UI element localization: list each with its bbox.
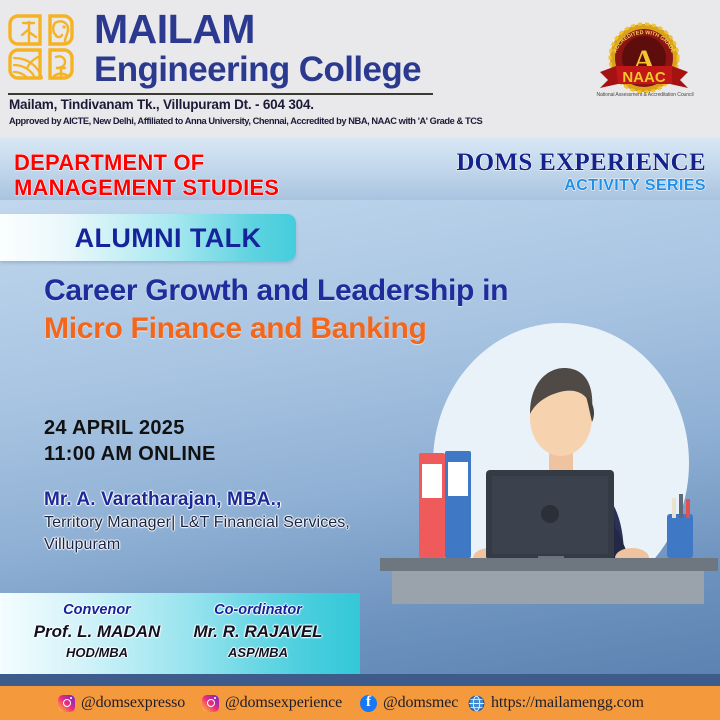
series-title: DOMS EXPERIENCE: [456, 150, 706, 176]
globe-icon: [468, 695, 485, 712]
department-line2: MANAGEMENT STUDIES: [14, 175, 279, 200]
college-name-line2: Engineering College: [94, 50, 421, 90]
instagram-icon: [58, 695, 75, 712]
event-title-line2: Micro Finance and Banking: [44, 310, 508, 348]
event-title-line1: Career Growth and Leadership in: [44, 272, 508, 310]
event-title: Career Growth and Leadership in Micro Fi…: [44, 272, 508, 348]
organiser-designation: HOD/MBA: [22, 643, 172, 662]
organiser-designation: ASP/MBA: [178, 643, 338, 662]
organiser-role: Co-ordinator: [178, 601, 338, 620]
event-time-mode: 11:00 AM ONLINE: [44, 441, 216, 467]
series-branding: DOMS EXPERIENCE ACTIVITY SERIES: [456, 150, 706, 196]
organiser-name: Mr. R. RAJAVEL: [178, 620, 338, 643]
social-footer: @domsexpresso @domsexperience @domsmec h…: [0, 686, 720, 720]
organiser-role: Convenor: [22, 601, 172, 620]
social-handle: @domsexpresso: [81, 694, 185, 712]
college-name: MAILAM Engineering College: [94, 8, 421, 90]
facebook-icon: [360, 695, 377, 712]
instagram-icon: [202, 695, 219, 712]
social-link-facebook-domsmec[interactable]: @domsmec: [360, 686, 458, 720]
series-subtitle: ACTIVITY SERIES: [456, 176, 706, 196]
organiser-coordinator: Co-ordinator Mr. R. RAJAVEL ASP/MBA: [178, 601, 338, 662]
speaker-name: Mr. A. Varatharajan, MBA.,: [44, 488, 350, 512]
footer-divider-strip: [0, 674, 720, 686]
organiser-name: Prof. L. MADAN: [22, 620, 172, 643]
organiser-convenor: Convenor Prof. L. MADAN HOD/MBA: [22, 601, 172, 662]
speaker-role-line2: Villupuram: [44, 534, 350, 556]
social-handle: @domsexperience: [225, 694, 342, 712]
alumni-talk-poster: MAILAM Engineering College Mailam, Tindi…: [0, 0, 720, 720]
social-handle: @domsmec: [383, 694, 458, 712]
college-name-line1: MAILAM: [94, 8, 421, 50]
department-title: DEPARTMENT OF MANAGEMENT STUDIES: [14, 150, 279, 200]
mailam-emblem-icon: [8, 10, 82, 88]
svg-text:NAAC: NAAC: [622, 69, 665, 86]
website-link[interactable]: https://mailamengg.com: [468, 686, 644, 720]
social-link-instagram-domsexpresso[interactable]: @domsexpresso: [58, 686, 185, 720]
website-url: https://mailamengg.com: [491, 694, 644, 712]
header-divider: [8, 93, 433, 95]
social-link-instagram-domsexperience[interactable]: @domsexperience: [202, 686, 342, 720]
businessman-at-desk-illustration: [378, 318, 720, 604]
event-type-label: ALUMNI TALK: [0, 223, 296, 254]
organisers-band: Convenor Prof. L. MADAN HOD/MBA Co-ordin…: [0, 593, 360, 674]
event-datetime: 24 APRIL 2025 11:00 AM ONLINE: [44, 415, 216, 467]
college-accreditation-text: Approved by AICTE, New Delhi, Affiliated…: [9, 116, 482, 127]
department-line1: DEPARTMENT OF: [14, 150, 279, 175]
event-date: 24 APRIL 2025: [44, 415, 216, 441]
naac-caption: National Assessment & Accreditation Coun…: [590, 92, 700, 98]
college-header: MAILAM Engineering College Mailam, Tindi…: [0, 0, 720, 138]
speaker-details: Mr. A. Varatharajan, MBA., Territory Man…: [44, 488, 350, 556]
college-address: Mailam, Tindivanam Tk., Villupuram Dt. -…: [9, 97, 314, 112]
speaker-role-line1: Territory Manager| L&T Financial Service…: [44, 512, 350, 534]
event-type-banner: ALUMNI TALK: [0, 214, 296, 261]
